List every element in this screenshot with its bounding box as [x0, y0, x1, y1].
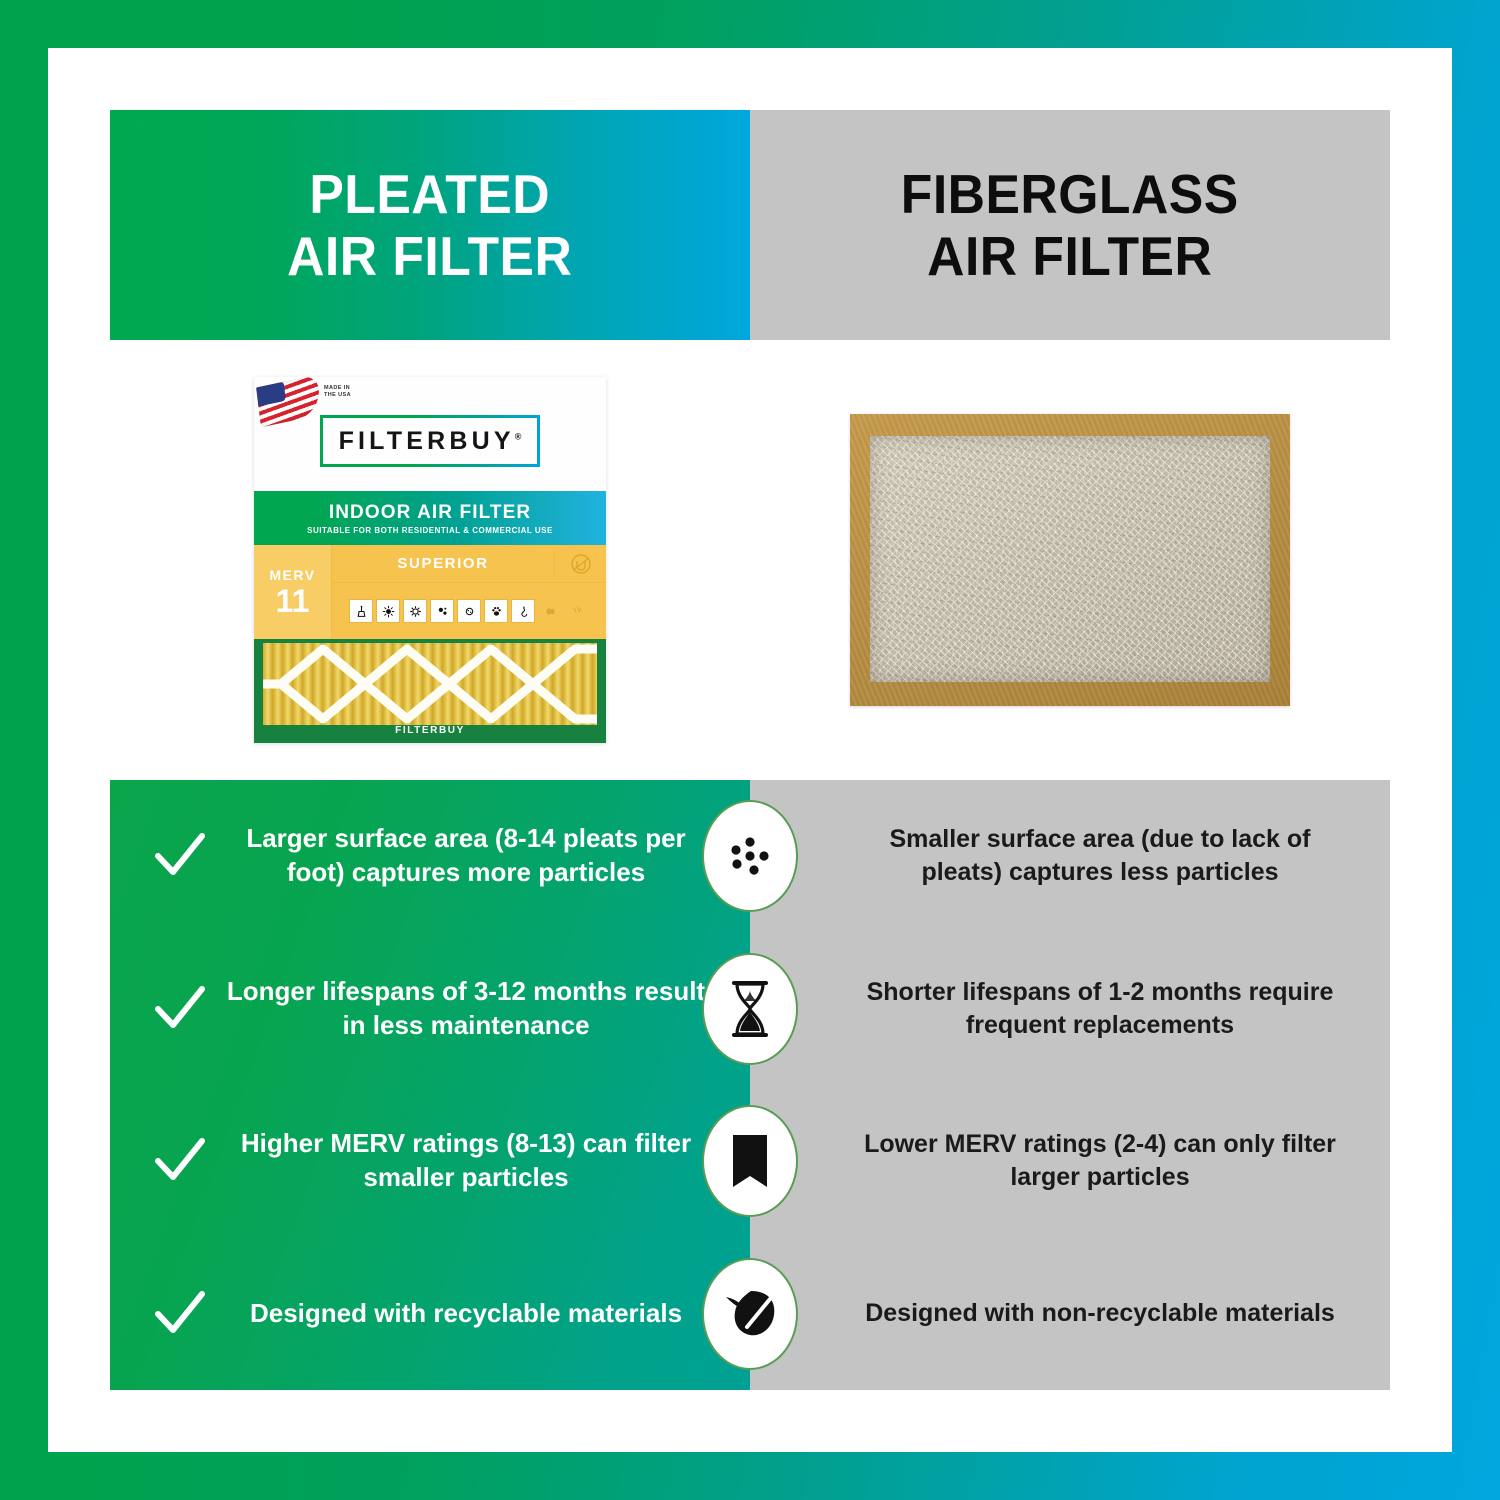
row-right-cell: Smaller surface area (due to lack of ple…: [750, 780, 1390, 933]
infographic-canvas: PLEATED AIR FILTER FIBERGLASS AIR FILTER…: [48, 48, 1452, 1452]
capability-icon-row: [332, 583, 606, 639]
fiberglass-filter-image: [850, 414, 1290, 706]
bookmark-icon: [702, 1105, 798, 1217]
fiberglass-product-cell: [750, 340, 1390, 780]
ul-certification-seal-icon: [554, 551, 606, 577]
row-right-text: Smaller surface area (due to lack of ple…: [850, 823, 1350, 889]
hourglass-icon: [702, 953, 798, 1065]
tier-label: SUPERIOR: [332, 555, 554, 572]
checkmark-icon: [144, 1131, 216, 1191]
particles-icon: [702, 800, 798, 912]
row-left-cell: Higher MERV ratings (8-13) can filter sm…: [110, 1085, 750, 1238]
leaf-icon: [702, 1258, 798, 1370]
band-main-text: INDOOR AIR FILTER: [329, 502, 531, 524]
checkmark-icon: [144, 979, 216, 1039]
table-row: Longer lifespans of 3-12 months result i…: [110, 933, 1390, 1086]
table-row: Designed with recyclable materials Desig…: [110, 1238, 1390, 1391]
odor-icon-disabled: [538, 599, 562, 623]
pollen-icon: [376, 599, 400, 623]
usa-flag-icon: [256, 377, 322, 427]
checkmark-icon: [144, 1284, 216, 1344]
tier-row: SUPERIOR: [332, 545, 606, 583]
box-footer-brand: FILTERBUY: [254, 725, 606, 743]
row-right-text: Designed with non-recyclable materials: [850, 1297, 1350, 1330]
row-right-cell: Shorter lifespans of 1-2 months require …: [750, 933, 1390, 1086]
indoor-air-filter-band: INDOOR AIR FILTER SUITABLE FOR BOTH RESI…: [254, 491, 606, 545]
row-left-cell: Designed with recyclable materials: [110, 1238, 750, 1391]
pet-dander-icon: [484, 599, 508, 623]
header-pleated: PLEATED AIR FILTER: [110, 110, 750, 340]
virus-icon: [457, 599, 481, 623]
header-band: PLEATED AIR FILTER FIBERGLASS AIR FILTER: [110, 110, 1390, 340]
merv-label: MERV: [269, 567, 315, 583]
box-top-section: MADE IN THE USA FILTERBUY®: [254, 377, 606, 491]
table-row: Larger surface area (8-14 pleats per foo…: [110, 780, 1390, 933]
made-in-usa-label: MADE IN THE USA: [324, 385, 351, 399]
header-fiberglass: FIBERGLASS AIR FILTER: [750, 110, 1390, 340]
fiberglass-mesh-texture: [870, 436, 1270, 682]
row-left-cell: Longer lifespans of 3-12 months result i…: [110, 933, 750, 1086]
filterbuy-logo: FILTERBUY®: [320, 415, 541, 467]
pleated-media-panel: FILTERBUY: [254, 639, 606, 743]
row-left-cell: Larger surface area (8-14 pleats per foo…: [110, 780, 750, 933]
dust-icon: [349, 599, 373, 623]
smoke-icon: [511, 599, 535, 623]
row-left-text: Designed with recyclable materials: [216, 1297, 716, 1331]
support-grid-overlay: [263, 643, 597, 725]
merv-value: 11: [276, 585, 310, 617]
table-row: Higher MERV ratings (8-13) can filter sm…: [110, 1085, 1390, 1238]
comparison-rows: Larger surface area (8-14 pleats per foo…: [110, 780, 1390, 1390]
row-right-cell: Lower MERV ratings (2-4) can only filter…: [750, 1085, 1390, 1238]
bacteria-icon: [430, 599, 454, 623]
filterbuy-logo-text: FILTERBUY®: [339, 427, 522, 456]
row-left-text: Longer lifespans of 3-12 months result i…: [216, 975, 716, 1043]
mold-spore-icon: [403, 599, 427, 623]
pleated-product-cell: MADE IN THE USA FILTERBUY® INDOOR AIR FI…: [110, 340, 750, 780]
outer-gradient-frame: PLEATED AIR FILTER FIBERGLASS AIR FILTER…: [0, 0, 1500, 1500]
row-right-cell: Designed with non-recyclable materials: [750, 1238, 1390, 1391]
row-left-text: Higher MERV ratings (8-13) can filter sm…: [216, 1127, 716, 1195]
merv-gold-section: MERV 11 SUPERIOR: [254, 545, 606, 639]
pleated-filter-box: MADE IN THE USA FILTERBUY® INDOOR AIR FI…: [254, 377, 606, 743]
header-pleated-title: PLEATED AIR FILTER: [287, 163, 572, 287]
smog-icon-disabled: [565, 599, 589, 623]
header-fiberglass-title: FIBERGLASS AIR FILTER: [901, 163, 1239, 287]
row-right-text: Shorter lifespans of 1-2 months require …: [850, 976, 1350, 1042]
row-left-text: Larger surface area (8-14 pleats per foo…: [216, 822, 716, 890]
checkmark-icon: [144, 826, 216, 886]
product-image-row: MADE IN THE USA FILTERBUY® INDOOR AIR FI…: [110, 340, 1390, 780]
band-sub-text: SUITABLE FOR BOTH RESIDENTIAL & COMMERCI…: [307, 526, 553, 535]
merv-right-section: SUPERIOR: [332, 545, 606, 639]
row-right-text: Lower MERV ratings (2-4) can only filter…: [850, 1128, 1350, 1194]
merv-badge: MERV 11: [254, 545, 332, 639]
comparison-table: Larger surface area (8-14 pleats per foo…: [110, 780, 1390, 1390]
